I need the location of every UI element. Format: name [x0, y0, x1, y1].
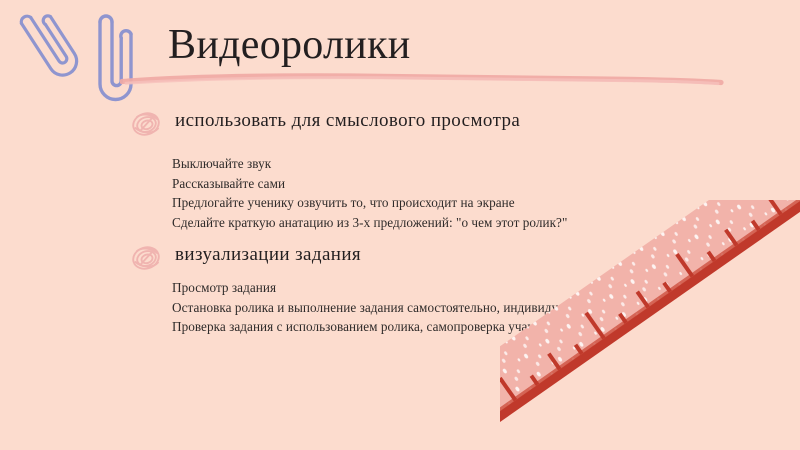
paperclip-diagonal-icon [19, 5, 82, 81]
list-item: Выключайте звук [172, 154, 567, 174]
section-heading-text: визуализации задания [175, 242, 361, 268]
section-item-list: Выключайте звук Рассказывайте сами Предл… [172, 154, 567, 232]
list-item: Проверка задания с использованием ролика… [172, 317, 590, 337]
scribble-doodle-icon [128, 108, 164, 140]
list-item: Рассказывайте сами [172, 174, 567, 194]
list-item: Просмотр задания [172, 278, 590, 298]
section-heading-text: использовать для смыслового просмотра [175, 108, 520, 134]
list-item: Предлогайте ученику озвучить то, что про… [172, 193, 567, 213]
slide-title: Видеоролики [168, 24, 411, 66]
title-underline-decoration [120, 72, 724, 86]
list-item: Остановка ролика и выполнение задания са… [172, 298, 590, 318]
paperclip-vertical-icon [100, 16, 131, 99]
scribble-doodle-icon [128, 242, 164, 274]
slide-canvas: Видеоролики использовать для смыслового … [0, 0, 800, 450]
section-item-list: Просмотр задания Остановка ролика и выпо… [172, 278, 590, 337]
list-item: Сделайте краткую анатацию из 3-х предлож… [172, 213, 567, 233]
